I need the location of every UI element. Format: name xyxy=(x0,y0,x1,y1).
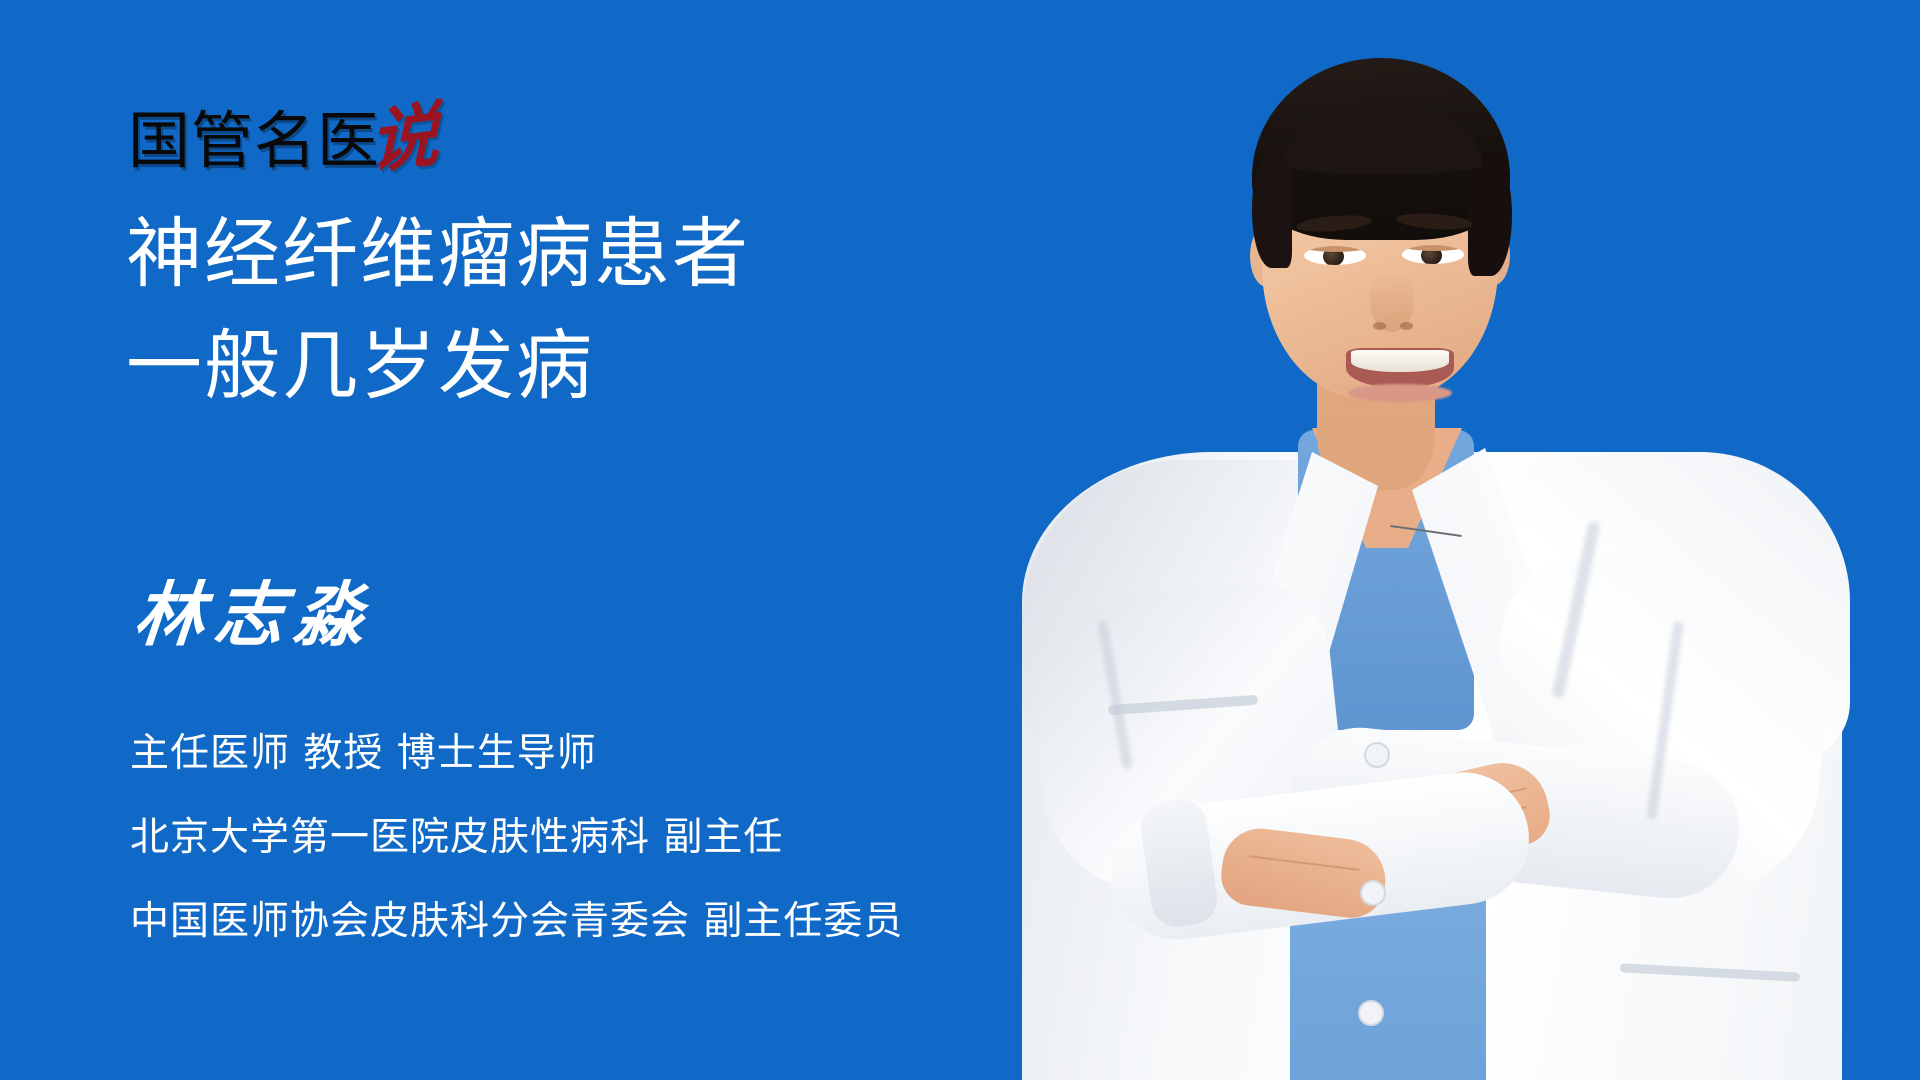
coat-button-top xyxy=(1364,742,1390,768)
headline-line-2: 一般几岁发病 xyxy=(126,310,1086,422)
video-cover-slide: 国管名医 说 神经纤维瘤病患者 一般几岁发病 林志淼 主任医师 教授 博士生导师… xyxy=(0,0,1920,1080)
brand-logo-main-text: 国管名医 xyxy=(128,110,380,172)
headline-block: 神经纤维瘤病患者 一般几岁发病 xyxy=(126,198,1086,422)
lower-lip xyxy=(1348,384,1452,402)
doctor-portrait-image xyxy=(960,0,1920,1080)
doctor-name: 林志淼 xyxy=(130,567,378,663)
nostril-right xyxy=(1400,322,1413,330)
eye-left xyxy=(1304,246,1366,265)
eyelid-right xyxy=(1402,245,1464,251)
coat-button-middle xyxy=(1360,880,1386,906)
eye-right xyxy=(1402,245,1464,264)
eyelid-left xyxy=(1304,246,1366,252)
coat-button-bottom xyxy=(1358,1000,1384,1026)
mouth-smile xyxy=(1346,348,1454,388)
nostril-left xyxy=(1373,322,1386,330)
hair-side-right xyxy=(1468,150,1512,276)
headline-line-1: 神经纤维瘤病患者 xyxy=(126,198,1086,310)
teeth xyxy=(1351,350,1449,372)
brand-logo-accent-text: 说 xyxy=(369,99,440,178)
hair-side-left xyxy=(1252,150,1292,268)
brand-logo: 国管名医 说 xyxy=(128,86,440,172)
